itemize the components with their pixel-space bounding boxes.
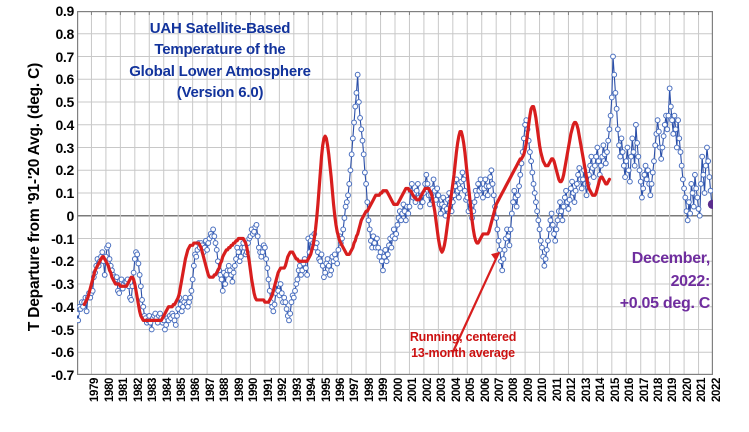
x-tick-label: 2016 (624, 378, 638, 432)
x-tick-label: 2015 (610, 378, 624, 432)
x-tick-label: 1997 (349, 378, 363, 432)
x-tick-label: 1982 (133, 378, 147, 432)
x-tick-label: 2020 (682, 378, 696, 432)
latest-value-annotation: December,2022:+0.05 deg. C (575, 248, 710, 316)
x-tick-label: 2021 (696, 378, 710, 432)
y-tick-label: 0.2 (26, 162, 74, 178)
x-tick-label: 1995 (321, 378, 335, 432)
y-tick-label: 0.7 (26, 49, 74, 65)
chart-title: UAH Satellite-BasedTemperature of theGlo… (95, 18, 345, 103)
y-tick-label: 0.8 (26, 26, 74, 42)
y-tick-label: -0.4 (26, 299, 74, 315)
x-tick-label: 2002 (422, 378, 436, 432)
x-tick-label: 1999 (378, 378, 392, 432)
chart-page: T Departure from '91-'20 Avg. (deg. C) 0… (0, 0, 749, 432)
x-tick-label: 2008 (508, 378, 522, 432)
x-tick-label: 1991 (263, 378, 277, 432)
x-tick-label: 1980 (104, 378, 118, 432)
annotation-line: 2022: (575, 271, 710, 294)
annotation-line: UAH Satellite-Based (95, 18, 345, 39)
x-axis-tick-labels: 1979198019811982198319841985198619871988… (0, 378, 749, 432)
x-tick-label: 2019 (667, 378, 681, 432)
annotation-line: December, (575, 248, 710, 271)
x-tick-label: 2004 (451, 378, 465, 432)
running-average-annotation: Running, centered13-month average (378, 330, 548, 361)
x-tick-label: 1979 (89, 378, 103, 432)
y-tick-label: 0.6 (26, 71, 74, 87)
annotation-line: +0.05 deg. C (575, 293, 710, 316)
x-tick-label: 1983 (147, 378, 161, 432)
x-tick-label: 2018 (653, 378, 667, 432)
annotation-line: Running, centered (378, 330, 548, 346)
x-tick-label: 1994 (306, 378, 320, 432)
x-tick-label: 2006 (480, 378, 494, 432)
x-tick-label: 2000 (393, 378, 407, 432)
y-tick-label: -0.5 (26, 322, 74, 338)
y-tick-label: -0.6 (26, 344, 74, 360)
annotation-line: (Version 6.0) (95, 82, 345, 103)
x-tick-label: 2001 (407, 378, 421, 432)
x-tick-label: 2022 (711, 378, 725, 432)
x-tick-label: 2012 (566, 378, 580, 432)
x-tick-label: 1996 (335, 378, 349, 432)
annotation-line: 13-month average (378, 346, 548, 362)
x-tick-label: 1984 (162, 378, 176, 432)
x-tick-label: 1990 (248, 378, 262, 432)
y-axis-tick-labels: 0.90.80.70.60.50.40.30.20.10-0.1-0.2-0.3… (26, 0, 74, 432)
annotation-line: Global Lower Atmosphere (95, 61, 345, 82)
x-tick-label: 1989 (234, 378, 248, 432)
y-tick-label: 0.1 (26, 185, 74, 201)
y-tick-label: -0.2 (26, 253, 74, 269)
x-tick-label: 2011 (552, 378, 566, 432)
x-tick-label: 1981 (118, 378, 132, 432)
y-tick-label: 0.3 (26, 140, 74, 156)
x-tick-label: 2010 (537, 378, 551, 432)
x-tick-label: 2003 (436, 378, 450, 432)
x-tick-label: 2005 (465, 378, 479, 432)
y-tick-label: 0.5 (26, 94, 74, 110)
x-tick-label: 1985 (176, 378, 190, 432)
x-tick-label: 1993 (292, 378, 306, 432)
y-tick-label: 0 (26, 208, 74, 224)
x-tick-label: 1988 (219, 378, 233, 432)
y-tick-label: -0.3 (26, 276, 74, 292)
y-tick-label: -0.1 (26, 231, 74, 247)
annotation-line: Temperature of the (95, 39, 345, 60)
x-tick-label: 1992 (277, 378, 291, 432)
x-tick-label: 2013 (581, 378, 595, 432)
y-tick-label: 0.9 (26, 3, 74, 19)
x-tick-label: 2017 (639, 378, 653, 432)
y-tick-label: 0.4 (26, 117, 74, 133)
x-tick-label: 1998 (364, 378, 378, 432)
x-tick-label: 1987 (205, 378, 219, 432)
x-tick-label: 2007 (494, 378, 508, 432)
x-tick-label: 2014 (595, 378, 609, 432)
x-tick-label: 1986 (190, 378, 204, 432)
x-tick-label: 2009 (523, 378, 537, 432)
